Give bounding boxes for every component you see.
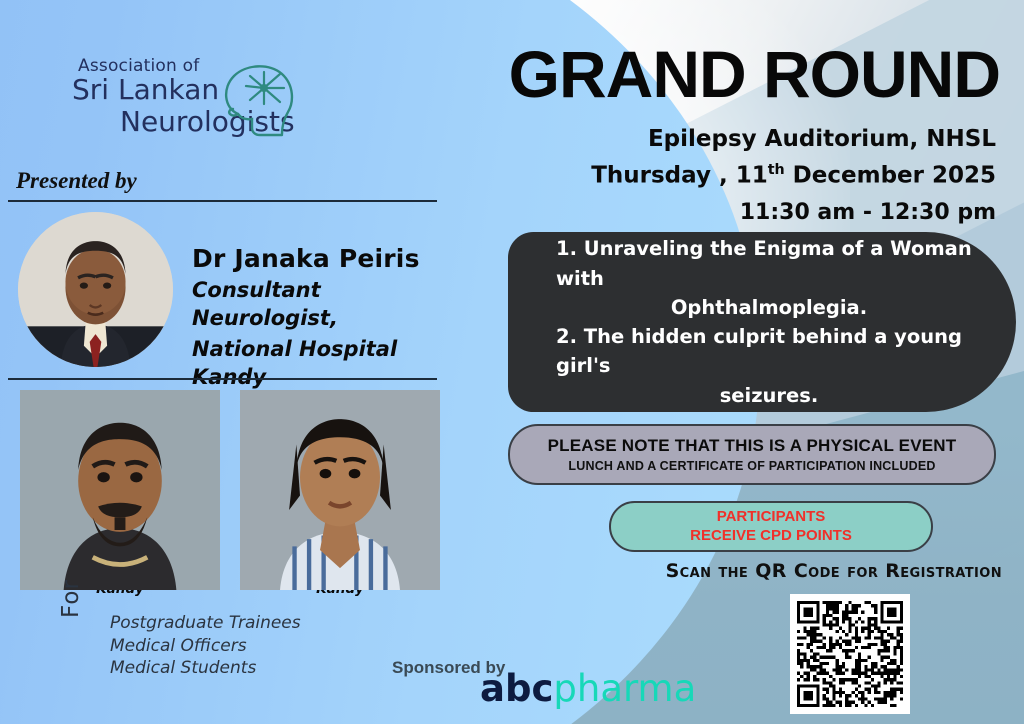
presented-by-heading: Presented by bbox=[16, 168, 137, 194]
topic-1-line-2: Ophthalmoplegia. bbox=[671, 293, 867, 322]
topic-2-line-1: 2. The hidden culprit behind a young gir… bbox=[556, 322, 982, 381]
divider-top bbox=[8, 200, 437, 202]
avatar bbox=[18, 212, 173, 367]
main-speaker-name: Dr Janaka Peiris bbox=[192, 244, 460, 273]
avatar bbox=[285, 390, 395, 500]
event-date-prefix: Thursday , 11 bbox=[591, 163, 768, 189]
audience-block: For Postgraduate Trainees Medical Office… bbox=[58, 612, 358, 692]
physical-event-notice: PLEASE NOTE THAT THIS IS A PHYSICAL EVEN… bbox=[508, 424, 996, 485]
topics-box: 1. Unraveling the Enigma of a Woman with… bbox=[508, 232, 1016, 412]
brain-head-icon bbox=[208, 52, 304, 148]
divider-bottom bbox=[8, 378, 437, 380]
association-logo: Association of Sri Lankan Neurologists bbox=[72, 56, 302, 148]
scan-instruction: Scan the QR Code for Registration bbox=[666, 560, 1002, 582]
topic-1-line-1: 1. Unraveling the Enigma of a Woman with bbox=[556, 234, 982, 293]
event-poster: Association of Sri Lankan Neurologists bbox=[0, 0, 1024, 724]
topic-2-line-2: seizures. bbox=[720, 381, 819, 410]
event-date-suffix: December 2025 bbox=[785, 163, 996, 189]
event-venue: Epilepsy Auditorium, NHSL bbox=[648, 126, 996, 152]
avatar bbox=[65, 390, 175, 500]
main-speaker: Dr Janaka Peiris Consultant Neurologist,… bbox=[0, 212, 460, 372]
event-time: 11:30 am - 12:30 pm bbox=[740, 200, 996, 225]
audience-list: Postgraduate Trainees Medical Officers M… bbox=[110, 612, 301, 680]
notice-subline: LUNCH AND A CERTIFICATE OF PARTICIPATION… bbox=[568, 459, 935, 473]
portrait-co-speaker-1-icon bbox=[65, 390, 175, 500]
audience-label: For bbox=[58, 579, 84, 618]
co-speaker-1: Dr W.A.G.M. Weerasinghe Senior Registrar… bbox=[20, 390, 220, 598]
co-speaker-2: Dr D.M.I.U. Dissanayaka Senior Registrar… bbox=[240, 390, 440, 598]
qr-code[interactable] bbox=[790, 594, 910, 714]
logo-line-2: Sri Lankan bbox=[72, 76, 219, 104]
event-date-ordinal-suffix: th bbox=[768, 162, 785, 178]
sponsor-brand-part-2: pharma bbox=[553, 667, 696, 710]
main-speaker-role-line-1: Consultant Neurologist, bbox=[192, 277, 460, 332]
main-speaker-role-line-2: National Hospital Kandy bbox=[192, 336, 460, 391]
notice-headline: PLEASE NOTE THAT THIS IS A PHYSICAL EVEN… bbox=[548, 436, 957, 456]
portrait-main-speaker-icon bbox=[18, 212, 173, 367]
sponsor-logo: abcpharma bbox=[480, 670, 696, 707]
qr-code-icon[interactable] bbox=[797, 601, 903, 707]
sponsor-brand-part-1: abc bbox=[480, 667, 553, 710]
event-date: Thursday , 11th December 2025 bbox=[591, 162, 996, 189]
portrait-co-speaker-2-icon bbox=[285, 390, 395, 500]
sponsor-block: Sponsored by abcpharma bbox=[392, 658, 722, 714]
cpd-line-2: RECEIVE CPD POINTS bbox=[690, 527, 852, 546]
page-title: GRAND ROUND bbox=[509, 36, 1000, 112]
cpd-line-1: PARTICIPANTS bbox=[717, 508, 826, 527]
left-column: Association of Sri Lankan Neurologists bbox=[0, 0, 460, 724]
cpd-points-badge: PARTICIPANTS RECEIVE CPD POINTS bbox=[609, 501, 933, 552]
main-speaker-text: Dr Janaka Peiris Consultant Neurologist,… bbox=[192, 244, 460, 392]
